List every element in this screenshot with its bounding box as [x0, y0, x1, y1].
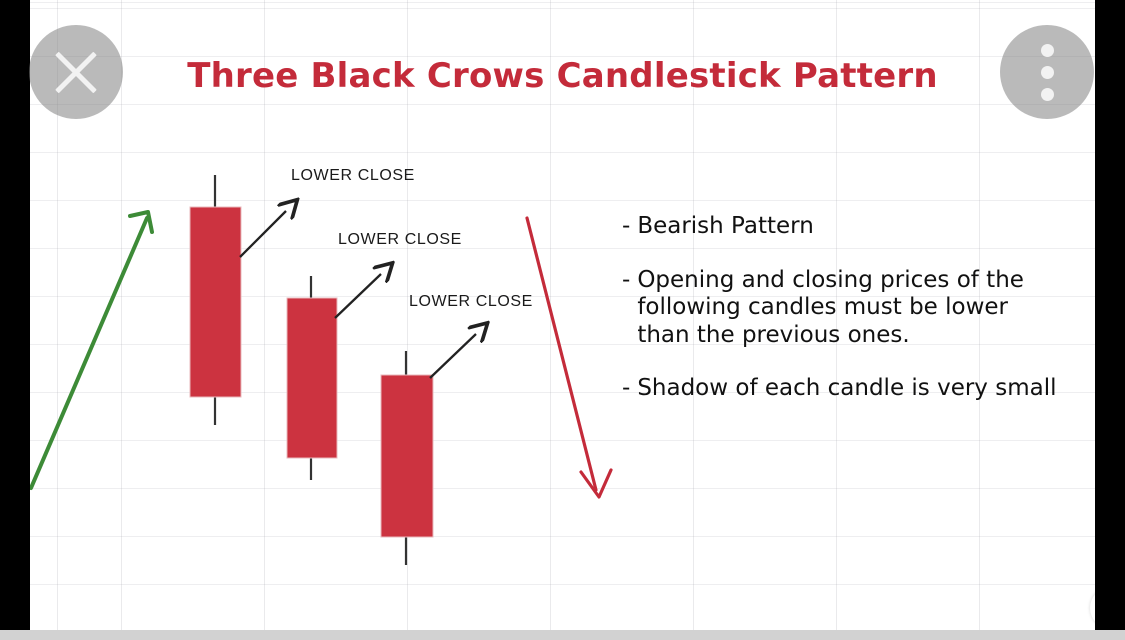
bullet-item: - Opening and closing prices of the foll…	[622, 267, 1092, 350]
bullet-item: - Bearish Pattern	[622, 213, 1092, 241]
bullet-text: Shadow of each candle is very small	[637, 375, 1092, 403]
callout-arrow-3	[430, 334, 476, 378]
bullet-text: Opening and closing prices of the follow…	[637, 267, 1092, 350]
candle-3	[381, 351, 433, 565]
more-options-icon	[1041, 44, 1054, 101]
lower-close-label-2: LOWER CLOSE	[338, 231, 462, 249]
bullet-marker: -	[622, 375, 630, 403]
more-options-button[interactable]	[1000, 25, 1094, 119]
close-button[interactable]	[29, 25, 123, 119]
candle-2	[287, 276, 337, 480]
slide-canvas: Three Black Crows Candlestick Pattern	[30, 0, 1095, 630]
lower-close-label-1: LOWER CLOSE	[291, 167, 415, 185]
close-icon	[49, 45, 103, 99]
uptrend-arrow	[31, 212, 152, 488]
bullet-marker: -	[622, 267, 630, 350]
bullet-list: - Bearish Pattern - Opening and closing …	[622, 213, 1092, 429]
slide-viewer: Three Black Crows Candlestick Pattern	[0, 0, 1125, 640]
bullet-item: - Shadow of each candle is very small	[622, 375, 1092, 403]
bottom-strip	[0, 630, 1125, 640]
bullet-text: Bearish Pattern	[637, 213, 1092, 241]
callout-arrow-1	[240, 211, 286, 257]
candle-1	[190, 175, 241, 425]
bullet-marker: -	[622, 213, 630, 241]
downtrend-arrow	[527, 218, 611, 497]
callout-arrow-2	[335, 274, 381, 318]
lower-close-label-3: LOWER CLOSE	[409, 293, 533, 311]
